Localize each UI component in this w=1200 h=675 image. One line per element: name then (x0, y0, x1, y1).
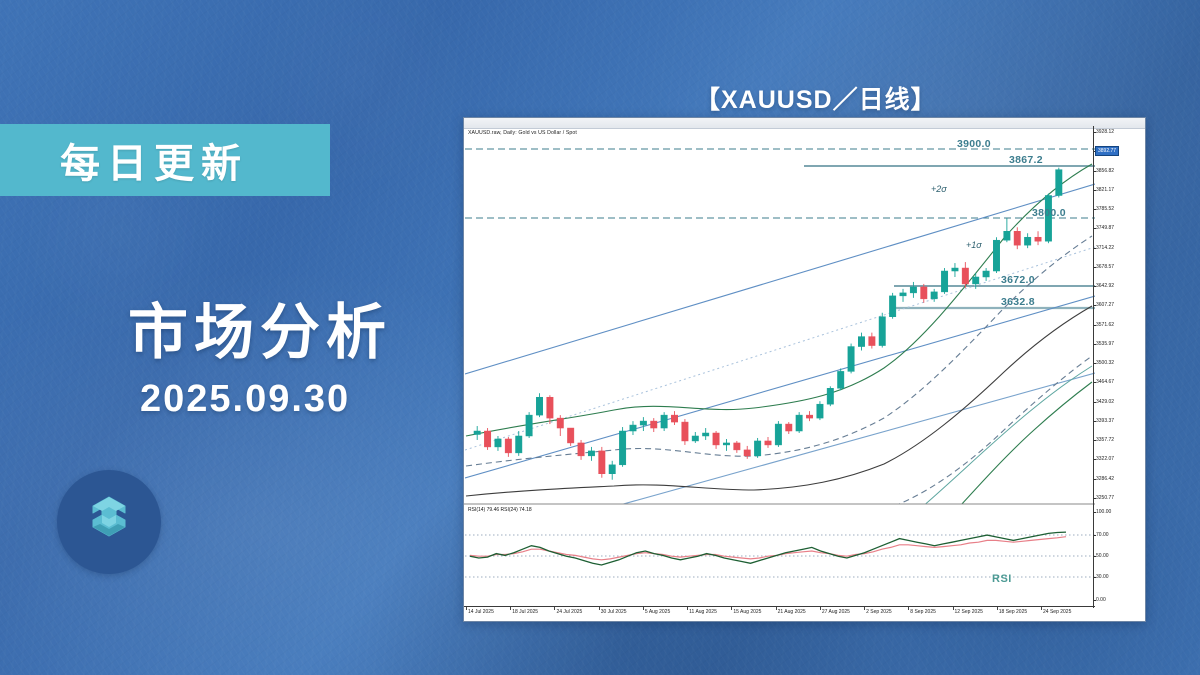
date-axis-tick: 24 Jul 2025 (556, 609, 582, 615)
candle-body (484, 431, 490, 447)
candle-body (578, 443, 584, 456)
channel-lower-line (465, 373, 1095, 548)
rsi-axis-tick: 30.00 (1096, 574, 1109, 580)
candle-body (837, 371, 843, 388)
candle-body (1014, 231, 1020, 245)
price-axis-tick: 3393.37 (1096, 418, 1114, 424)
rsi-axis-tick: 0.00 (1096, 597, 1106, 603)
price-axis-tick: 3642.92 (1096, 283, 1114, 289)
price-axis-tick: 3821.17 (1096, 187, 1114, 193)
annotation-label-3867: 3867.2 (1009, 154, 1043, 166)
rsi-axis[interactable]: 100.0070.0050.0030.000.00 (1093, 504, 1145, 608)
candle-body (692, 436, 698, 441)
price-axis-tick: 3535.97 (1096, 341, 1114, 347)
price-axis-tick: 3286.42 (1096, 476, 1114, 482)
candle-body (972, 277, 978, 284)
candle-body (651, 421, 657, 428)
candle-body (921, 287, 927, 299)
candle-body (505, 439, 511, 453)
price-axis-tick: 3856.82 (1096, 168, 1114, 174)
candle-body (879, 317, 885, 346)
candle-body (931, 292, 937, 299)
annotation-label-3900: 3900.0 (957, 138, 991, 150)
candlestick-series (474, 168, 1062, 480)
date-axis-tick: 24 Sep 2025 (1043, 609, 1071, 615)
page-title: 市场分析 (128, 284, 392, 371)
candle-body (640, 421, 646, 425)
price-axis-tick: 3928.12 (1096, 129, 1114, 135)
rsi-pane (465, 532, 1095, 577)
candle-body (516, 436, 522, 453)
candle-body (474, 431, 480, 434)
rsi-24-line (470, 537, 1066, 560)
candle-body (775, 424, 781, 445)
candle-body (983, 271, 989, 277)
price-axis[interactable]: 3928.123892.773856.823821.173785.523749.… (1093, 126, 1145, 504)
candle-body (786, 424, 792, 431)
rsi-axis-tick: 70.00 (1096, 532, 1109, 538)
date-axis-tick: 27 Aug 2025 (822, 609, 850, 615)
candle-body (952, 268, 958, 271)
candle-body (754, 441, 760, 456)
date-axis-tick: 2 Sep 2025 (866, 609, 892, 615)
candle-body (734, 443, 740, 450)
rsi-14-line (470, 532, 1066, 565)
sigma-label-plus-2: +2σ (931, 184, 947, 194)
channel-mid-line (465, 296, 1095, 478)
candle-body (609, 465, 615, 474)
annotation-label-3800: 3800.0 (1032, 207, 1066, 219)
candle-body (962, 268, 968, 284)
date-axis-tick: 14 Jul 2025 (468, 609, 494, 615)
candle-body (526, 415, 532, 436)
price-axis-tick: 3322.07 (1096, 456, 1114, 462)
price-axis-tick: 3250.77 (1096, 495, 1114, 501)
candle-body (1024, 237, 1030, 245)
sigma-label-plus-1: +1σ (966, 240, 982, 250)
candle-body (495, 439, 501, 447)
isometric-cube-logo-icon (78, 491, 140, 553)
price-axis-tick: 3678.57 (1096, 264, 1114, 270)
chart-plot-area (464, 118, 1095, 623)
price-axis-tick: 3607.27 (1096, 302, 1114, 308)
candle-body (744, 450, 750, 456)
candle-body (536, 397, 542, 415)
candle-body (1035, 237, 1041, 241)
candle-body (806, 415, 812, 418)
price-axis-tick: 3749.87 (1096, 225, 1114, 231)
candle-body (682, 422, 688, 441)
date-axis-tick: 11 Aug 2025 (689, 609, 717, 615)
time-axis[interactable]: 14 Jul 202518 Jul 202524 Jul 202530 Jul … (464, 606, 1095, 621)
candle-body (588, 451, 594, 456)
candle-body (858, 337, 864, 347)
price-axis-tick: 3785.52 (1096, 206, 1114, 212)
candle-body (817, 404, 823, 418)
candle-body (661, 415, 667, 428)
publish-date: 2025.09.30 (140, 378, 350, 421)
rsi-axis-tick: 50.00 (1096, 553, 1109, 559)
candle-body (910, 287, 916, 293)
price-axis-tick: 3357.72 (1096, 437, 1114, 443)
band-lower (466, 382, 1092, 597)
date-axis-tick: 30 Jul 2025 (601, 609, 627, 615)
rsi-watermark-label: RSI (992, 573, 1012, 585)
candle-body (827, 388, 833, 404)
candle-body (567, 428, 573, 443)
date-axis-tick: 8 Sep 2025 (910, 609, 936, 615)
price-axis-tick: 3714.22 (1096, 245, 1114, 251)
date-axis-tick: 18 Jul 2025 (512, 609, 538, 615)
price-axis-tick: 3571.62 (1096, 322, 1114, 328)
brand-logo (57, 470, 161, 574)
candle-body (723, 443, 729, 445)
current-price-tag: 3892.77 (1095, 146, 1119, 156)
candle-body (900, 293, 906, 296)
chart-heading: 【XAUUSD／日线】 (695, 80, 937, 116)
candle-body (848, 347, 854, 372)
candle-body (889, 296, 895, 317)
candle-body (796, 415, 802, 431)
daily-update-badge: 每日更新 (0, 124, 330, 196)
price-pane (465, 149, 1095, 597)
candle-body (702, 433, 708, 436)
band-middle-ma (466, 306, 1092, 496)
band-lower-alt (466, 366, 1092, 560)
daily-update-badge-label: 每日更新 (60, 131, 248, 189)
candle-body (619, 431, 625, 465)
candle-body (1004, 231, 1010, 240)
date-axis-tick: 18 Sep 2025 (999, 609, 1027, 615)
rsi-legend: RSI(14) 79.46 RSI(24) 74.18 (468, 507, 532, 513)
price-axis-tick: 3500.32 (1096, 360, 1114, 366)
band-upper (466, 164, 1092, 436)
trading-chart-window[interactable]: XAUUSD.raw, Daily: Gold vs US Dollar / S… (463, 117, 1146, 622)
candle-body (671, 415, 677, 422)
candle-body (547, 397, 553, 418)
candle-body (765, 441, 771, 445)
candle-body (557, 418, 563, 428)
candle-body (869, 337, 875, 346)
annotation-label-3632: 3632.8 (1001, 296, 1035, 308)
rsi-axis-tick: 100.00 (1096, 509, 1111, 515)
price-axis-tick: 3429.02 (1096, 399, 1114, 405)
annotation-label-3672: 3672.0 (1001, 274, 1035, 286)
date-axis-tick: 5 Aug 2025 (645, 609, 670, 615)
candle-body (599, 451, 605, 474)
candle-body (941, 271, 947, 292)
candle-body (993, 240, 999, 271)
date-axis-tick: 15 Aug 2025 (733, 609, 761, 615)
price-axis-tick: 3464.67 (1096, 379, 1114, 385)
candle-body (630, 425, 636, 431)
date-axis-tick: 12 Sep 2025 (955, 609, 983, 615)
date-axis-tick: 21 Aug 2025 (778, 609, 806, 615)
candle-body (713, 433, 719, 445)
candle-body (1056, 170, 1062, 196)
